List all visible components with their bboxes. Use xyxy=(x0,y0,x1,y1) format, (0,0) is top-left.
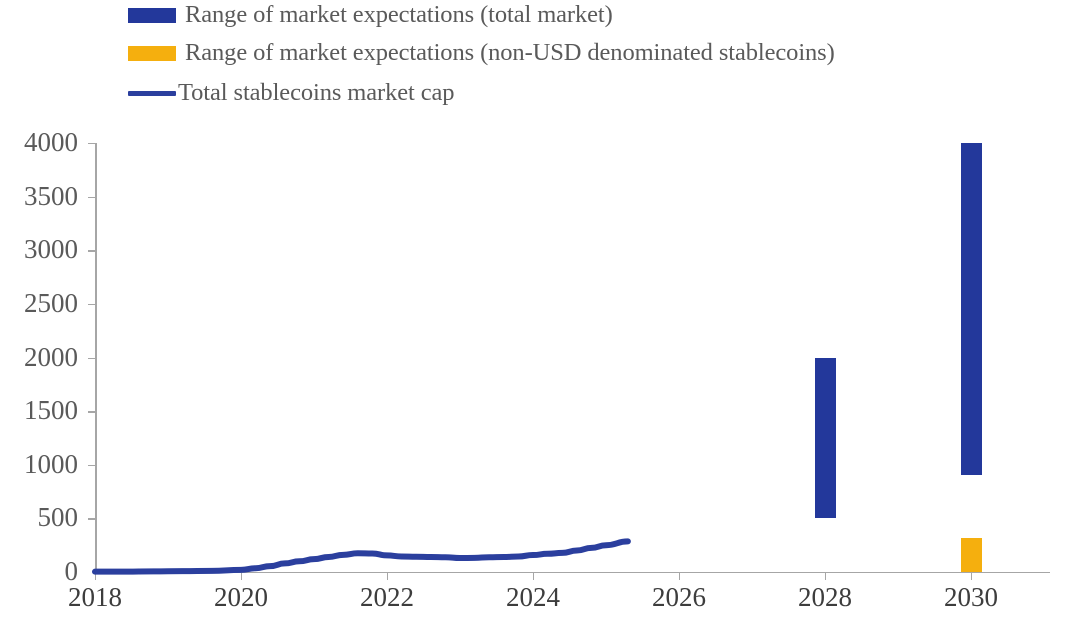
legend-item-total-market: Range of market expectations (total mark… xyxy=(128,1,613,29)
legend-label-total-market-cap: Total stablecoins market cap xyxy=(178,79,454,107)
legend-swatch-yellow-icon xyxy=(128,46,176,61)
legend-swatch-blue-icon xyxy=(128,8,176,23)
legend-line-blue-icon xyxy=(128,91,176,96)
legend-item-total-market-cap: Total stablecoins market cap xyxy=(128,79,454,107)
chart-legend: Range of market expectations (total mark… xyxy=(0,0,1090,120)
legend-label-non-usd-stablecoins: Range of market expectations (non-USD de… xyxy=(185,39,835,67)
legend-item-non-usd-stablecoins: Range of market expectations (non-USD de… xyxy=(128,39,835,67)
chart-plot-area: 40003500300025002000150010005000 2018202… xyxy=(0,120,1090,636)
legend-label-total-market: Range of market expectations (total mark… xyxy=(185,1,613,29)
line-series-layer xyxy=(0,120,1090,636)
total-stablecoins-market-cap-line xyxy=(95,541,628,571)
